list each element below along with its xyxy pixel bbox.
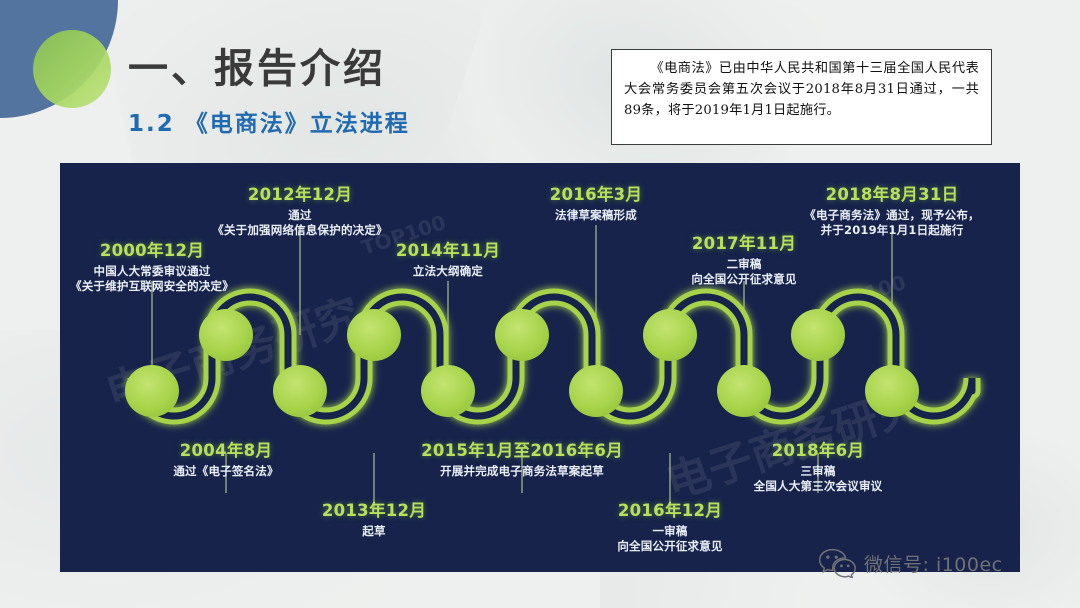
timeline-label-7: 2016年3月 法律草案稿形成 bbox=[496, 185, 696, 223]
timeline-date-2: 2004年8月 bbox=[126, 441, 326, 462]
timeline-label-4: 2013年12月 起草 bbox=[274, 501, 474, 539]
wechat-label: 微信号: i100ec bbox=[864, 550, 1003, 577]
timeline-date-3: 2012年12月 bbox=[180, 185, 420, 206]
wechat-icon bbox=[818, 548, 856, 578]
slide-canvas: 一、报告介绍 1.2 《电商法》立法进程 《电商法》已由中华人民共和国第十三届全… bbox=[0, 0, 1080, 608]
timeline-date-8: 2016年12月 bbox=[570, 501, 770, 522]
timeline-desc-8-line1: 一审稿 bbox=[570, 524, 770, 539]
timeline-date-6: 2015年1月至2016年6月 bbox=[392, 441, 652, 462]
timeline-date-10: 2018年6月 bbox=[718, 441, 918, 462]
timeline-date-5: 2014年11月 bbox=[348, 241, 548, 262]
timeline-desc-7-line1: 法律草案稿形成 bbox=[496, 208, 696, 223]
timeline-desc-2-line1: 通过《电子签名法》 bbox=[126, 464, 326, 479]
timeline-desc-3-line2: 《关于加强网络信息保护的决定》 bbox=[180, 223, 420, 238]
page-title: 一、报告介绍 bbox=[128, 36, 386, 94]
callout-text: 《电商法》已由中华人民共和国第十三届全国人民代表大会常务委员会第五次会议于201… bbox=[624, 59, 979, 122]
wechat-footer: 微信号: i100ec bbox=[818, 548, 1003, 578]
timeline-label-11: 2018年8月31日 《电子商务法》通过，现予公布， 并于2019年1月1日起施… bbox=[772, 185, 1012, 238]
timeline-date-1: 2000年12月 bbox=[60, 241, 272, 262]
corner-green-circle bbox=[33, 30, 111, 108]
timeline-desc-11-line1: 《电子商务法》通过，现予公布， bbox=[772, 208, 1012, 223]
timeline-desc-1-line2: 《关于维护互联网安全的决定》 bbox=[60, 279, 272, 294]
timeline-desc-11-line2: 并于2019年1月1日起施行 bbox=[772, 223, 1012, 238]
timeline-date-7: 2016年3月 bbox=[496, 185, 696, 206]
timeline-desc-10-line2: 全国人大第三次会议审议 bbox=[718, 479, 918, 494]
timeline-desc-5-line1: 立法大纲确定 bbox=[348, 264, 548, 279]
timeline-label-2: 2004年8月 通过《电子签名法》 bbox=[126, 441, 326, 479]
timeline-desc-1-line1: 中国人大常委审议通过 bbox=[60, 264, 272, 279]
timeline-desc-9-line2: 向全国公开征求意见 bbox=[644, 272, 844, 287]
timeline-desc-9-line1: 二审稿 bbox=[644, 257, 844, 272]
timeline-desc-10-line1: 三审稿 bbox=[718, 464, 918, 479]
timeline-desc-3-line1: 通过 bbox=[180, 208, 420, 223]
timeline-panel: 电子商务研究 电子商务研究 TOP100 TOP100 bbox=[60, 163, 1020, 572]
timeline-label-3: 2012年12月 通过 《关于加强网络信息保护的决定》 bbox=[180, 185, 420, 238]
page-subtitle: 1.2 《电商法》立法进程 bbox=[128, 104, 410, 138]
timeline-label-1: 2000年12月 中国人大常委审议通过 《关于维护互联网安全的决定》 bbox=[60, 241, 272, 294]
timeline-desc-4-line1: 起草 bbox=[274, 524, 474, 539]
timeline-date-11: 2018年8月31日 bbox=[772, 185, 1012, 206]
timeline-desc-8-line2: 向全国公开征求意见 bbox=[570, 539, 770, 554]
timeline-label-10: 2018年6月 三审稿 全国人大第三次会议审议 bbox=[718, 441, 918, 494]
timeline-label-6: 2015年1月至2016年6月 开展并完成电子商务法草案起草 bbox=[392, 441, 652, 479]
timeline-desc-6-line1: 开展并完成电子商务法草案起草 bbox=[392, 464, 652, 479]
timeline-label-5: 2014年11月 立法大纲确定 bbox=[348, 241, 548, 279]
timeline-date-4: 2013年12月 bbox=[274, 501, 474, 522]
timeline-label-9: 2017年11月 二审稿 向全国公开征求意见 bbox=[644, 234, 844, 287]
callout-box: 《电商法》已由中华人民共和国第十三届全国人民代表大会常务委员会第五次会议于201… bbox=[611, 49, 992, 145]
timeline-label-8: 2016年12月 一审稿 向全国公开征求意见 bbox=[570, 501, 770, 554]
